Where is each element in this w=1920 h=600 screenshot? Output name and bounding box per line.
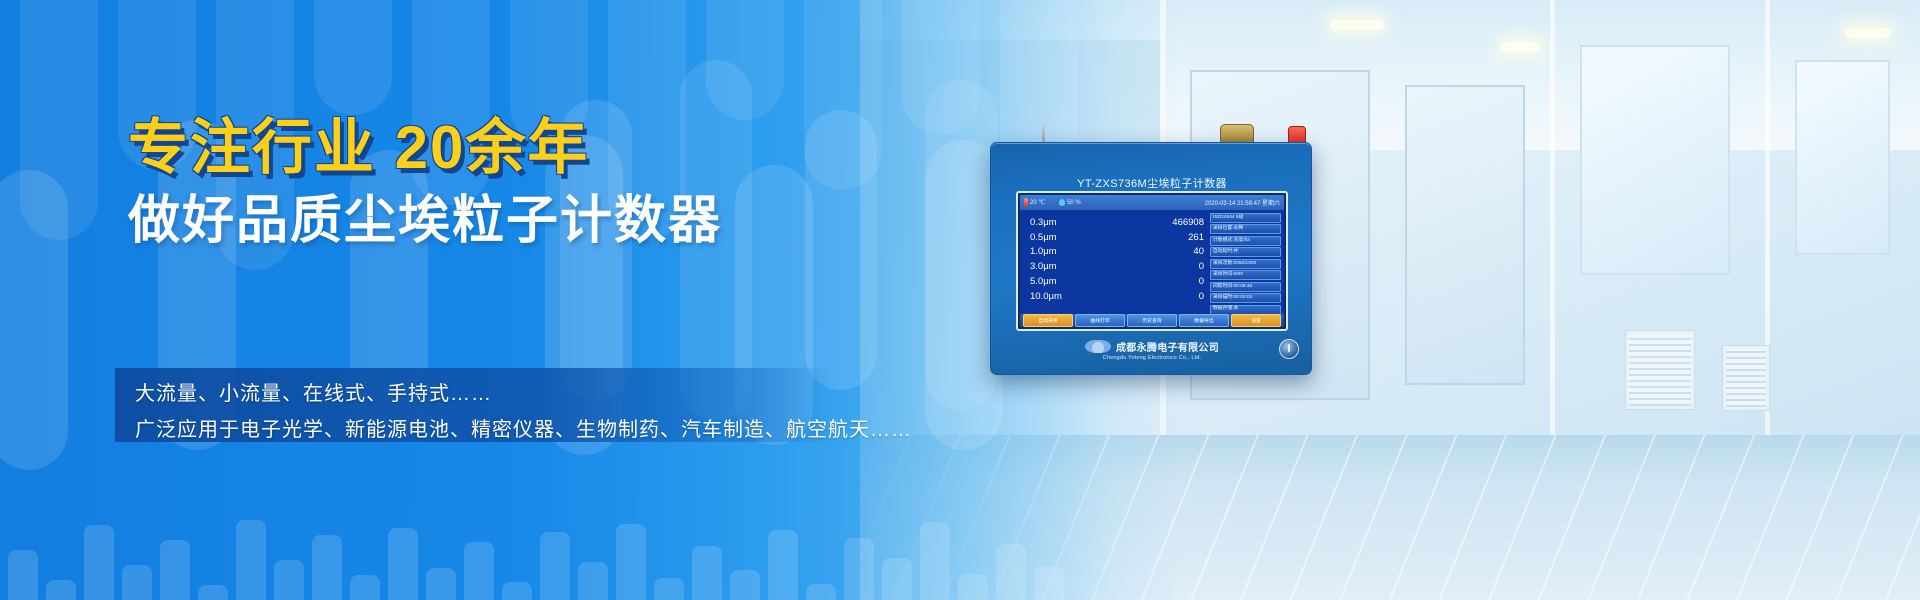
humidity-value: 50 %	[1067, 200, 1081, 206]
decorative-equalizer	[0, 470, 1100, 600]
particle-row: 5.0μm 0	[1030, 275, 1204, 290]
photo-air-vent	[1625, 330, 1695, 410]
parameter-item[interactable]: 采样位置:永腾	[1210, 224, 1281, 234]
page-title: 专注行业 20余年	[128, 118, 888, 178]
data-export-button[interactable]: 数据导出	[1179, 314, 1229, 327]
hero-copy: 专注行业 20余年 做好品质尘埃粒子计数器	[128, 118, 888, 249]
particle-count: 0	[1199, 290, 1204, 305]
brand-name-cn: 成都永腾电子有限公司	[1116, 339, 1219, 354]
photo-ceiling-lamp	[1500, 42, 1540, 52]
parameter-item[interactable]: 采样时间:6/60	[1210, 270, 1281, 280]
parameter-item[interactable]: 间歇时间:00:06:46	[1210, 282, 1281, 292]
parameter-item[interactable]: ISO14644 5级	[1210, 213, 1281, 223]
parameter-item[interactable]: 采样次数:0050/1000	[1210, 259, 1281, 269]
photo-air-vent	[1722, 345, 1770, 411]
device-body: YT-ZXS736M尘埃粒子计数器 20 ℃ 50 % 2020-03-14 2…	[990, 142, 1312, 375]
settings-button[interactable]: 设置	[1231, 314, 1281, 327]
history-query-button[interactable]: 历史查询	[1127, 314, 1177, 327]
particle-row: 0.5μm 261	[1030, 231, 1204, 246]
photo-ceiling-lamp	[1330, 20, 1384, 30]
datetime-display: 2020-03-14 21:58:47 星期六	[1205, 198, 1280, 207]
tagline-line-2: 广泛应用于电子光学、新能源电池、精密仪器、生物制药、汽车制造、航空航天……	[135, 413, 912, 442]
particle-size: 1.0μm	[1030, 245, 1057, 260]
brand-name-en: Chengdu Yoteng Electronics Co., Ltd.	[991, 355, 1313, 361]
page-subtitle: 做好品质尘埃粒子计数器	[128, 194, 888, 249]
parameter-item[interactable]: 采样描时:00:00:03	[1210, 293, 1281, 303]
particle-readout-list: 0.3μm 466908 0.5μm 261 1.0μm 40	[1020, 210, 1210, 314]
brand-row: 成都永腾电子有限公司	[991, 339, 1313, 354]
screen-inner: 20 ℃ 50 % 2020-03-14 21:58:47 星期六 0.3μm	[1020, 195, 1284, 327]
particle-size: 0.5μm	[1030, 231, 1057, 246]
photo-window	[1580, 45, 1730, 275]
screen-body: 0.3μm 466908 0.5μm 261 1.0μm 40	[1020, 210, 1284, 314]
photo-door	[1405, 85, 1525, 385]
particle-count: 40	[1193, 245, 1204, 260]
device-branding: 成都永腾电子有限公司 Chengdu Yoteng Electronics Co…	[991, 339, 1313, 361]
particle-size: 0.3μm	[1030, 216, 1057, 231]
device-model-label: YT-ZXS736M尘埃粒子计数器	[991, 175, 1313, 191]
power-button[interactable]	[1279, 339, 1299, 359]
particle-size: 3.0μm	[1030, 260, 1057, 275]
hero-banner: 专注行业 20余年 做好品质尘埃粒子计数器 大流量、小流量、在线式、手持式…… …	[0, 0, 1920, 600]
particle-count: 261	[1188, 231, 1204, 246]
yoteng-logo-icon	[1085, 340, 1111, 353]
parameter-panel: ISO14644 5级 采样位置:永腾 计数模式:浓度/ft3 自动延时:并 采…	[1210, 210, 1284, 314]
particle-count: 466908	[1172, 216, 1204, 231]
particle-row: 1.0μm 40	[1030, 245, 1204, 260]
droplet-icon	[1059, 199, 1065, 206]
particle-row: 10.0μm 0	[1030, 290, 1204, 305]
parameter-item[interactable]: 计数模式:浓度/ft3	[1210, 236, 1281, 246]
photo-window	[1795, 60, 1890, 255]
tagline-line-1: 大流量、小流量、在线式、手持式……	[135, 377, 492, 406]
curve-print-button[interactable]: 曲线打印	[1075, 314, 1125, 327]
particle-size: 5.0μm	[1030, 275, 1057, 290]
humidity-cell: 50 %	[1059, 199, 1081, 206]
particle-counter-device: YT-ZXS736M尘埃粒子计数器 20 ℃ 50 % 2020-03-14 2…	[990, 120, 1312, 375]
photo-ceiling-lamp	[1845, 28, 1891, 38]
temperature-value: 20 ℃	[1030, 199, 1045, 206]
screen-button-bar: 自动采样 曲线打印 历史查询 数据导出 设置	[1020, 314, 1284, 327]
particle-count: 0	[1199, 275, 1204, 290]
thermometer-icon	[1024, 198, 1028, 207]
particle-row: 3.0μm 0	[1030, 260, 1204, 275]
auto-sample-button[interactable]: 自动采样	[1023, 314, 1073, 327]
temperature-cell: 20 ℃	[1024, 198, 1045, 207]
particle-size: 10.0μm	[1030, 290, 1062, 305]
particle-count: 0	[1199, 260, 1204, 275]
device-screen[interactable]: 20 ℃ 50 % 2020-03-14 21:58:47 星期六 0.3μm	[1016, 191, 1288, 331]
screen-statusbar: 20 ℃ 50 % 2020-03-14 21:58:47 星期六	[1020, 195, 1284, 210]
particle-row: 0.3μm 466908	[1030, 216, 1204, 231]
parameter-item[interactable]: 自动延时:并	[1210, 247, 1281, 257]
